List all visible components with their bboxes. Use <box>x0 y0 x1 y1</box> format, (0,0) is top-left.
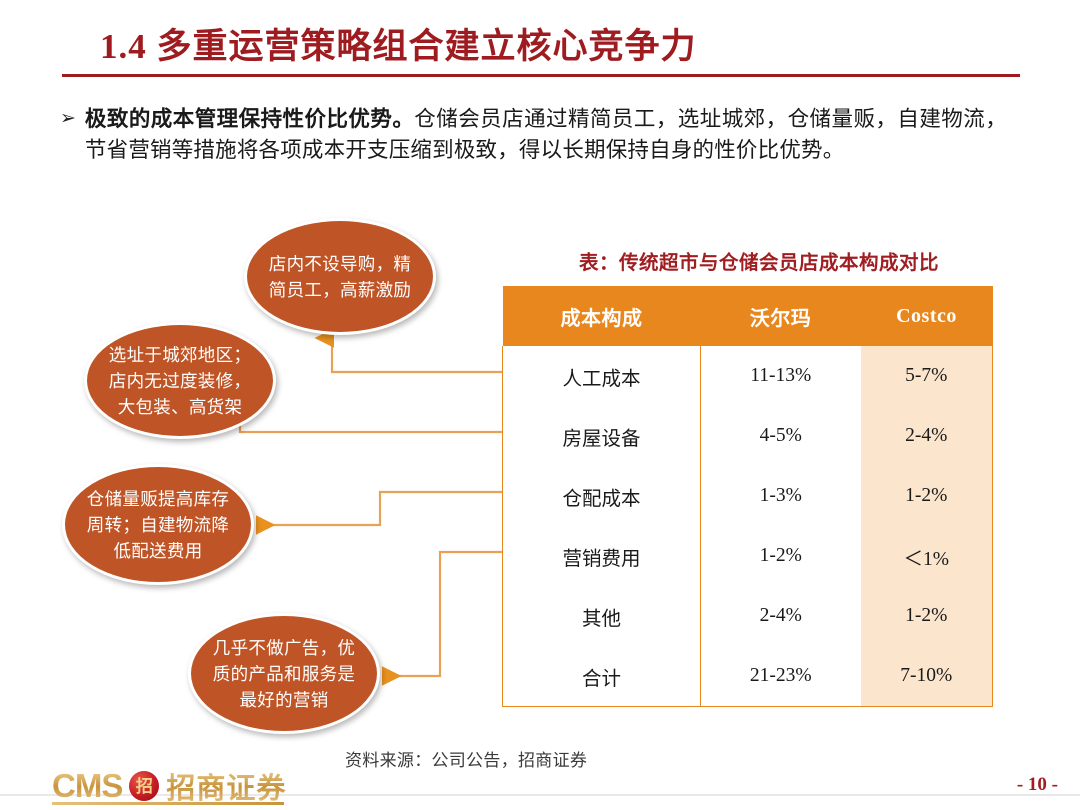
cell-costco: 1-2% <box>861 466 993 526</box>
table-header-row: 成本构成 沃尔玛 Costco <box>503 286 993 346</box>
connector-to-marketing <box>384 552 502 676</box>
cell-walmart: 4-5% <box>701 406 861 466</box>
bullet-text: 极致的成本管理保持性价比优势。仓储会员店通过精简员工，选址城郊，仓储量贩，自建物… <box>85 104 1007 166</box>
slide-canvas: 1.4 多重运营策略组合建立核心竞争力 ➢ 极致的成本管理保持性价比优势。仓储会… <box>0 0 1080 810</box>
column-header-cost-item: 成本构成 <box>503 286 701 346</box>
brand-underline <box>52 802 284 805</box>
cell-cost-item: 合计 <box>503 646 701 707</box>
callout-staff: 店内不设导购，精简员工，高薪激励 <box>244 218 436 335</box>
column-header-costco: Costco <box>861 286 993 346</box>
cell-walmart: 21-23% <box>701 646 861 707</box>
table-row: 其他 2-4% 1-2% <box>503 586 993 646</box>
table-row: 营销费用 1-2% ＜1% <box>503 526 993 586</box>
page-title: 1.4 多重运营策略组合建立核心竞争力 <box>100 18 697 69</box>
table-row: 房屋设备 4-5% 2-4% <box>503 406 993 466</box>
cell-cost-item: 营销费用 <box>503 526 701 586</box>
cell-costco: ＜1% <box>861 526 993 586</box>
brand-logo: CMS 招 招商证券 <box>52 766 286 806</box>
callout-site-label: 选址于城郊地区；店内无过度装修，大包装、高货架 <box>101 342 259 420</box>
connector-to-staff <box>332 338 502 372</box>
connector-to-site <box>240 391 502 432</box>
cell-cost-item: 仓配成本 <box>503 466 701 526</box>
cell-costco: 2-4% <box>861 406 993 466</box>
cell-cost-item: 房屋设备 <box>503 406 701 466</box>
source-note: 资料来源：公司公告，招商证券 <box>345 746 587 771</box>
table-row: 合计 21-23% 7-10% <box>503 646 993 707</box>
table-caption: 表：传统超市与仓储会员店成本构成对比 <box>524 246 994 275</box>
cell-costco: 5-7% <box>861 346 993 406</box>
brand-name-cn: 招商证券 <box>166 765 286 807</box>
callout-marketing: 几乎不做广告，优质的产品和服务是最好的营销 <box>188 613 380 734</box>
cell-walmart: 11-13% <box>701 346 861 406</box>
callout-staff-label: 店内不设导购，精简员工，高薪激励 <box>261 251 419 303</box>
cell-walmart: 1-2% <box>701 526 861 586</box>
callout-marketing-label: 几乎不做广告，优质的产品和服务是最好的营销 <box>205 635 363 713</box>
cell-walmart: 1-3% <box>701 466 861 526</box>
title-block: 1.4 多重运营策略组合建立核心竞争力 <box>62 18 1020 80</box>
table-row: 仓配成本 1-3% 1-2% <box>503 466 993 526</box>
brand-cms-text: CMS <box>52 767 122 805</box>
callout-logistics-label: 仓储量贩提高库存周转；自建物流降低配送费用 <box>79 486 237 564</box>
cell-walmart: 2-4% <box>701 586 861 646</box>
column-header-walmart: 沃尔玛 <box>701 286 861 346</box>
bullet-lead-text: 极致的成本管理保持性价比优势。 <box>85 107 414 131</box>
bullet-arrow-icon: ➢ <box>60 104 76 134</box>
cell-costco: 7-10% <box>861 646 993 707</box>
cell-cost-item: 其他 <box>503 586 701 646</box>
title-underline-rule <box>62 74 1020 77</box>
callout-site: 选址于城郊地区；店内无过度装修，大包装、高货架 <box>84 322 276 439</box>
cost-structure-table: 成本构成 沃尔玛 Costco 人工成本 11-13% 5-7% 房屋设备 4-… <box>502 286 993 707</box>
cell-costco: 1-2% <box>861 586 993 646</box>
cms-emblem-icon: 招 <box>129 771 159 801</box>
bullet-paragraph: ➢ 极致的成本管理保持性价比优势。仓储会员店通过精简员工，选址城郊，仓储量贩，自… <box>60 104 1020 166</box>
table-row: 人工成本 11-13% 5-7% <box>503 346 993 406</box>
callout-logistics: 仓储量贩提高库存周转；自建物流降低配送费用 <box>62 464 254 585</box>
cell-cost-item: 人工成本 <box>503 346 701 406</box>
page-number: - 10 - <box>1017 774 1058 796</box>
connector-to-logistics <box>258 492 502 525</box>
